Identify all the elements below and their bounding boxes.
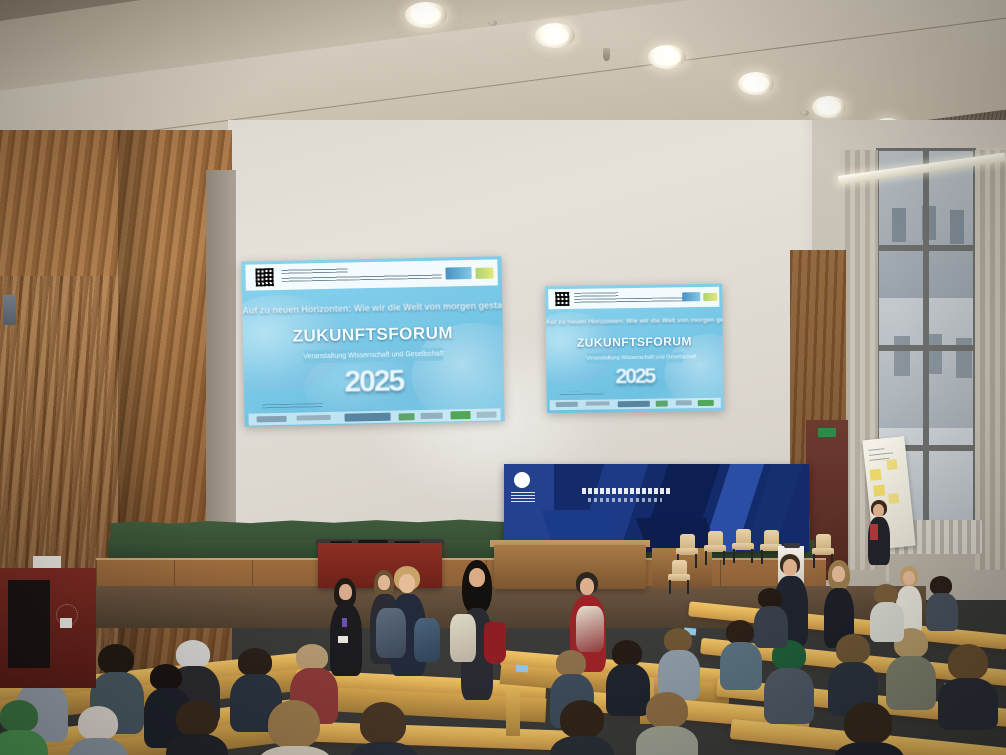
window-curtain-right	[975, 150, 1006, 570]
slide-caption	[560, 391, 604, 395]
lecture-hall-photo: Auf zu neuen Horizonten: Wie wir die Wel…	[0, 0, 1006, 755]
sponsor-logo	[297, 415, 331, 421]
sponsor-logo	[618, 401, 650, 407]
qr-code-icon	[255, 268, 273, 286]
sponsor-logo	[676, 400, 692, 405]
sponsor-logo	[656, 401, 668, 407]
carried-jacket	[484, 622, 506, 664]
sponsor-logo	[421, 413, 443, 419]
slide-title: ZUKUNFTSFORUM	[546, 334, 723, 350]
backdrop-subtitle	[588, 498, 662, 502]
slide-header-line2	[574, 297, 684, 303]
backdrop-title	[582, 488, 672, 494]
sponsor-logo	[399, 413, 415, 420]
partner-logo	[703, 293, 717, 301]
slide-header-line1	[574, 292, 618, 297]
partner-logo	[682, 292, 700, 301]
sponsor-logo	[257, 416, 287, 423]
smoke-detector	[800, 110, 809, 116]
exit-placard	[60, 618, 72, 628]
slide-year: 2025	[546, 364, 723, 390]
slide-subtitle: Veranstaltung Wissenschaft und Gesellsch…	[586, 352, 683, 363]
organisation-logo-text	[511, 491, 535, 502]
bench-desk	[300, 721, 571, 750]
partner-logo	[445, 267, 471, 280]
sponsor-logo	[476, 411, 496, 417]
slide-header-line1	[281, 268, 347, 274]
smoke-detector	[488, 20, 497, 26]
sponsor-logo	[450, 411, 470, 419]
bench-end-panel	[506, 688, 520, 736]
pedestal-device	[784, 543, 800, 548]
recessed-downlight	[405, 2, 447, 28]
sponsor-logo	[345, 413, 391, 422]
demo-table	[494, 545, 646, 589]
exit-sign	[818, 428, 836, 437]
slide-header-bar	[245, 259, 497, 290]
doorway-left[interactable]	[8, 580, 50, 668]
recessed-downlight	[648, 45, 686, 69]
slide-header-line2	[282, 274, 442, 282]
sponsor-logo	[586, 401, 610, 405]
wall-speaker	[3, 295, 16, 325]
handout-paper[interactable]	[516, 665, 528, 673]
sprinkler-head	[603, 48, 610, 61]
qr-code-icon	[555, 292, 569, 306]
slide-year: 2025	[244, 362, 505, 401]
organisation-logo-icon	[514, 472, 530, 488]
recessed-downlight	[535, 23, 575, 48]
projection-screen-secondary: Auf zu neuen Horizonten: Wie wir die Wel…	[545, 284, 724, 413]
recessed-downlight	[738, 72, 774, 95]
recessed-downlight	[812, 96, 846, 118]
projection-screen-main: Auf zu neuen Horizonten: Wie wir die Wel…	[241, 256, 504, 426]
sponsor-logo	[556, 402, 578, 407]
sponsor-logo	[698, 400, 714, 406]
wall-device	[33, 556, 61, 568]
partner-logo	[475, 267, 493, 278]
slide-header-bar	[548, 287, 719, 309]
wall-vertical-strip	[206, 170, 236, 570]
